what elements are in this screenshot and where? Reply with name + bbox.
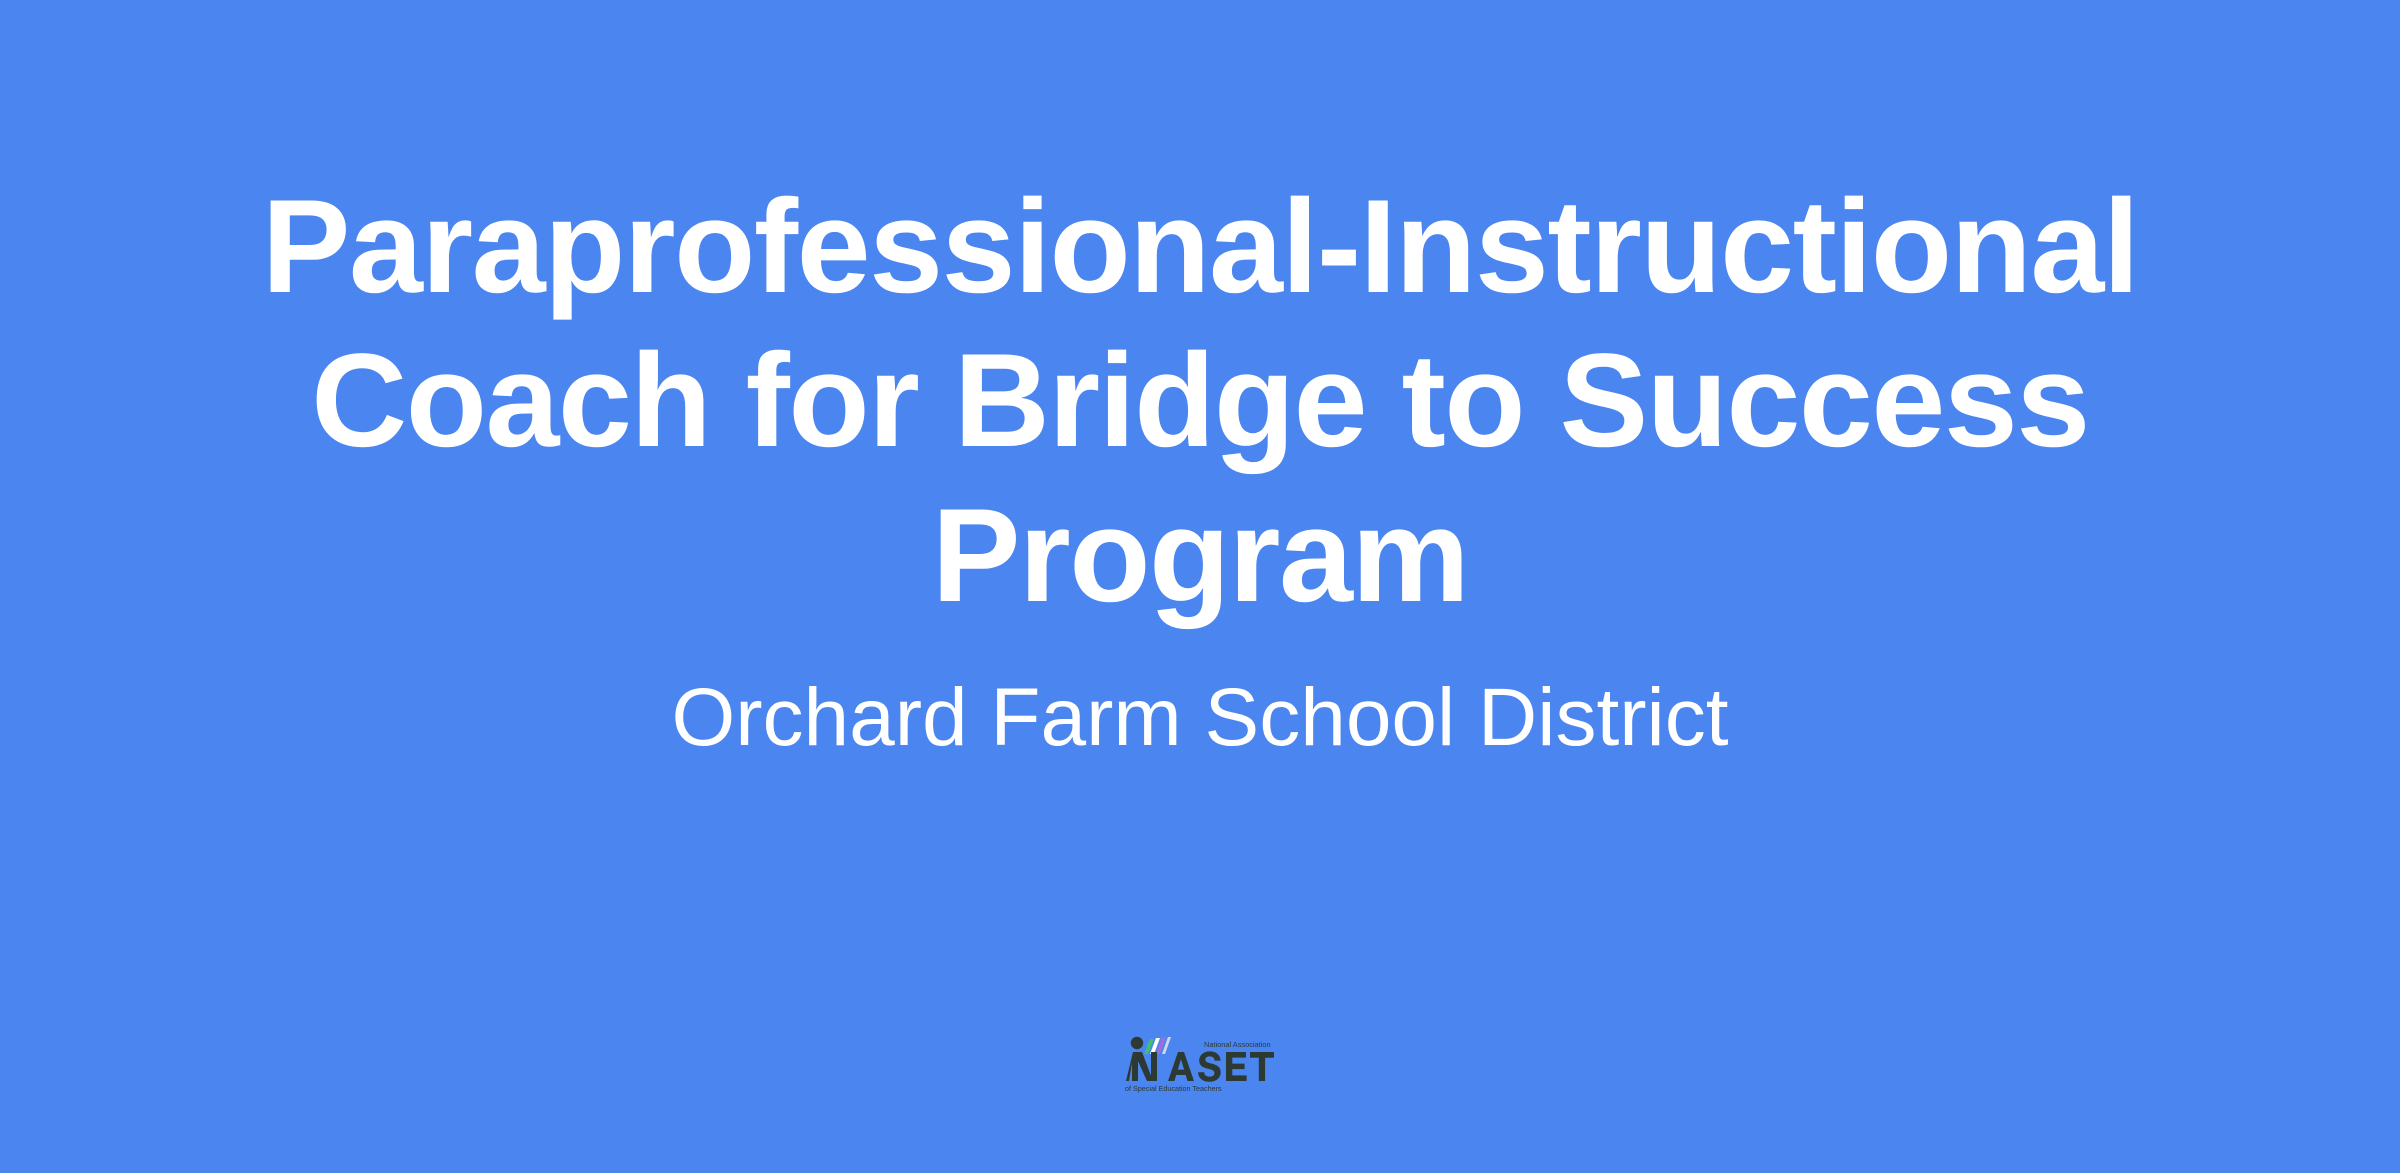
naset-logo-icon: National Association of Special Educatio…: [1120, 1032, 1280, 1094]
slide-subtitle: Orchard Farm School District: [150, 669, 2250, 767]
logo-figure-head: [1131, 1037, 1143, 1049]
logo-wordmark: [1126, 1051, 1274, 1081]
logo-accent-slashes: [1144, 1037, 1171, 1054]
slide-content: Paraprofessional-Instructional Coach for…: [0, 170, 2400, 767]
naset-logo: National Association of Special Educatio…: [1120, 1032, 1280, 1094]
page-title: Paraprofessional-Instructional Coach for…: [80, 170, 2320, 633]
logo-tagline-top: National Association: [1204, 1040, 1271, 1049]
title-slide: Paraprofessional-Instructional Coach for…: [0, 0, 2400, 1173]
logo-tagline-bottom: of Special Education Teachers: [1125, 1084, 1222, 1093]
